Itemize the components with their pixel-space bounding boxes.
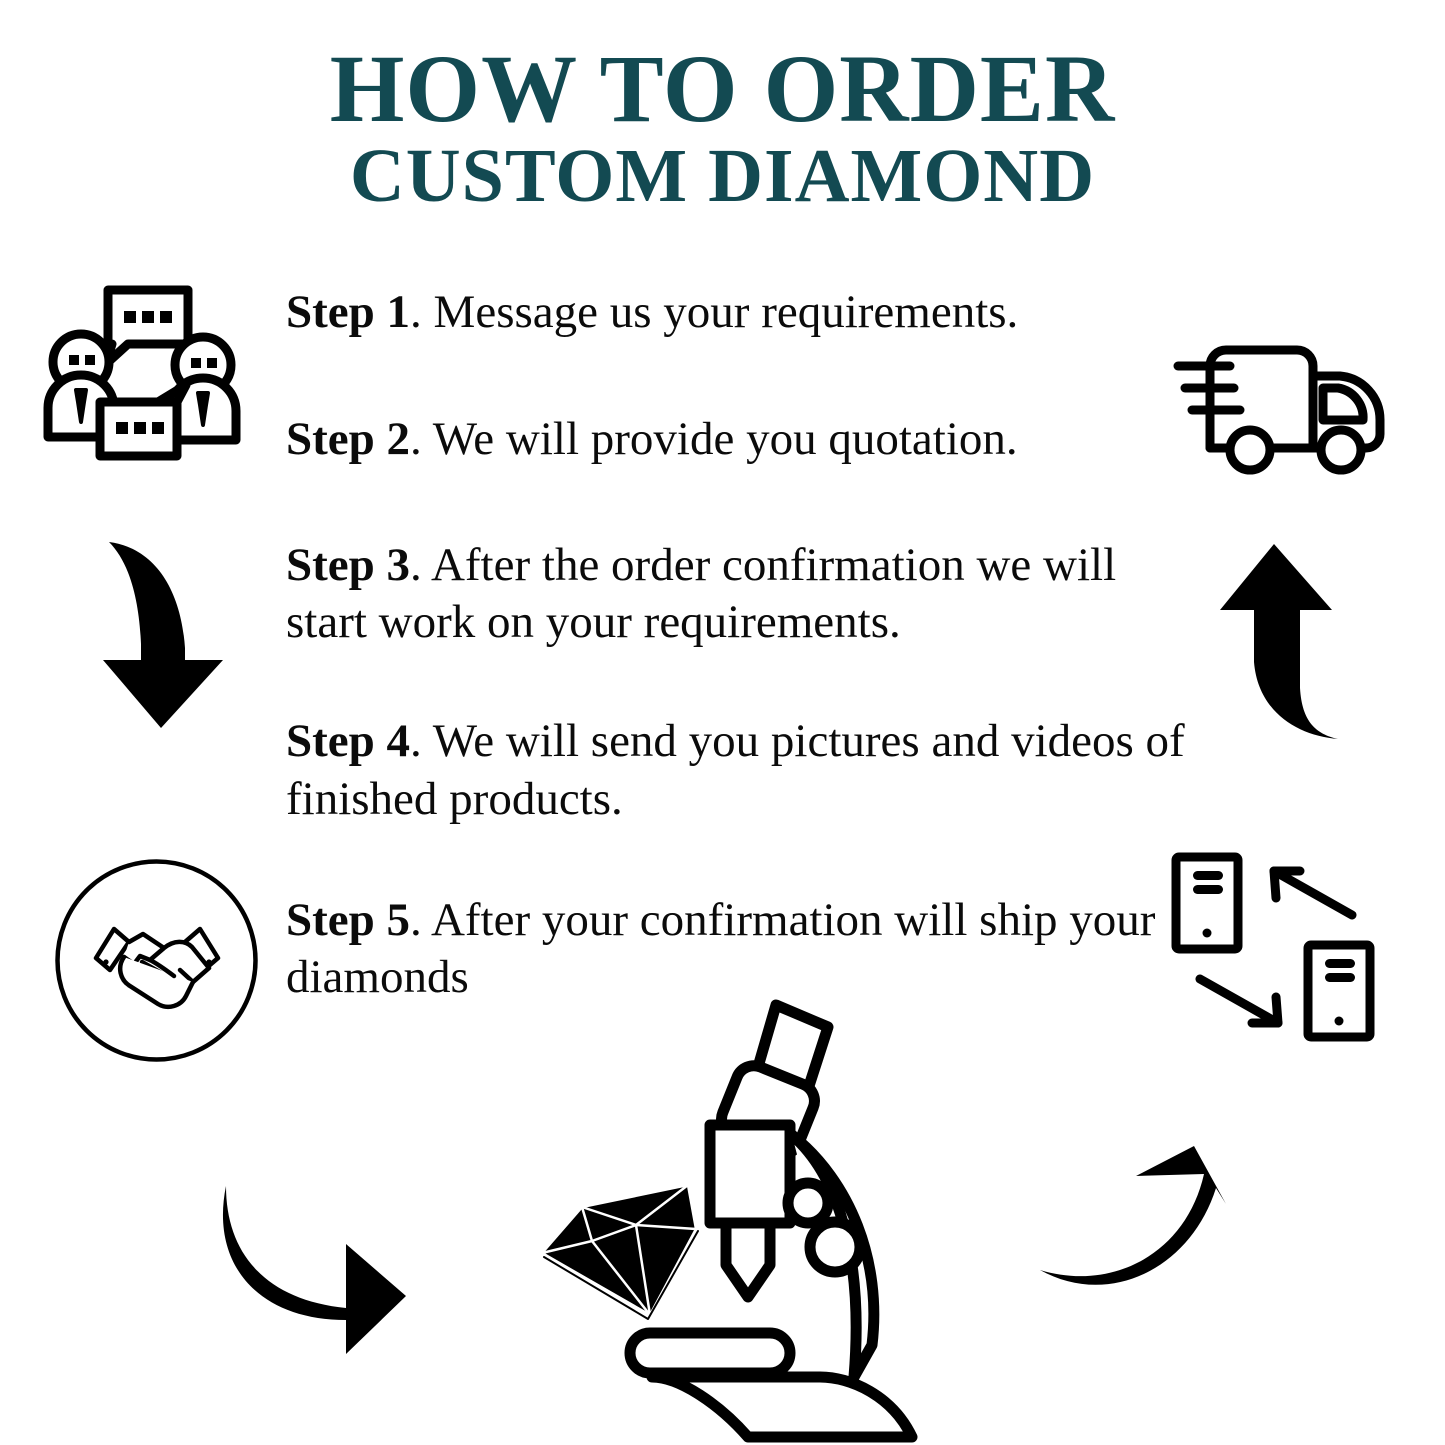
step-1-separator: . [410, 286, 434, 338]
step-item-4: Step 4. We will send you pictures and vi… [286, 713, 1186, 828]
step-2-separator: . [410, 413, 433, 465]
step-1-label: Step 1 [286, 286, 410, 338]
curved-arrow-right-icon [196, 1182, 416, 1367]
curved-arrow-up-right-icon [1026, 1142, 1246, 1342]
steps-list: Step 1. Message us your requirements. St… [286, 284, 1186, 1007]
curved-arrow-down-icon [95, 532, 235, 737]
step-4-label: Step 4 [286, 715, 410, 767]
step-3-label: Step 3 [286, 539, 410, 591]
step-5-label: Step 5 [286, 894, 410, 946]
handshake-circle-icon [54, 858, 259, 1063]
step-2-text: We will provide you quotation. [433, 413, 1018, 465]
microscope-diamond-icon [520, 985, 940, 1445]
people-chat-icon [36, 272, 251, 482]
poster-title: HOW TO ORDER CUSTOM DIAMOND [0, 42, 1445, 217]
step-item-1: Step 1. Message us your requirements. [286, 284, 1186, 341]
step-3-separator: . [410, 539, 431, 591]
step-1-text: Message us your requirements. [434, 286, 1019, 338]
step-4-separator: . [410, 715, 433, 767]
title-line-1: HOW TO ORDER [0, 42, 1445, 136]
curved-arrow-up-icon [1212, 536, 1362, 751]
step-5-separator: . [410, 894, 431, 946]
step-2-label: Step 2 [286, 413, 410, 465]
step-item-2: Step 2. We will provide you quotation. [286, 411, 1186, 468]
title-line-2: CUSTOM DIAMOND [0, 136, 1445, 217]
step-item-3: Step 3. After the order confirmation we … [286, 537, 1186, 652]
poster-canvas: HOW TO ORDER CUSTOM DIAMOND Step 1. Mess… [0, 0, 1445, 1445]
device-exchange-icon [1160, 845, 1400, 1060]
delivery-truck-icon [1168, 328, 1398, 488]
